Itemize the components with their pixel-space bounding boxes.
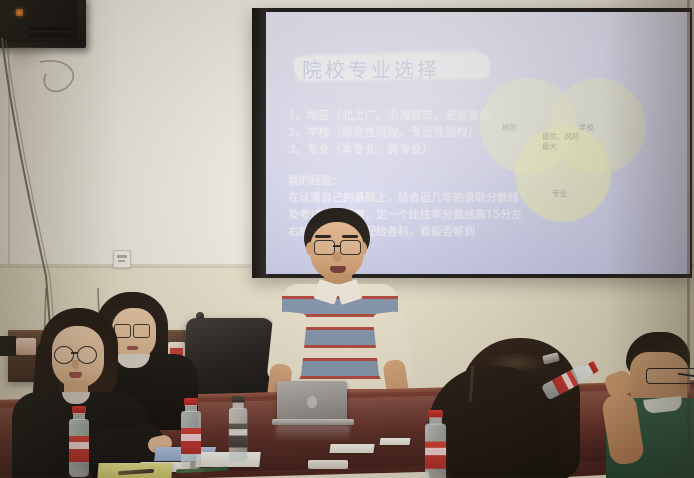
presenter-brow-right: [342, 235, 358, 238]
attendee-right-man: [600, 332, 694, 478]
slide-title: 院校专业选择: [302, 54, 502, 83]
paper-white-3: [329, 444, 374, 453]
presenter-brow-left: [315, 235, 331, 238]
wall-power-socket: [113, 250, 131, 268]
photo-scene: 院校专业选择 1、地区（北上广、沿海城市、老家省会．．． 2、学校（综合性院校、…: [0, 0, 694, 478]
paper-white-4: [380, 438, 411, 445]
back-table-black-box: [0, 336, 16, 356]
laptop-reflection: [276, 425, 350, 441]
presenter-nose: [333, 252, 341, 262]
glasses-icon-bridge: [333, 245, 340, 247]
monitor-power-led-icon: [16, 9, 23, 16]
venn-center-label: 最优、风险最大: [542, 132, 582, 152]
presenter-mouth: [330, 266, 346, 273]
presenter-ear-left: [306, 242, 314, 255]
glasses-icon-right-lens: [77, 346, 97, 364]
attendee-front-left-mouth: [69, 372, 82, 378]
monitor-vent-upper: [30, 27, 70, 30]
attendee-foreground-right-1: [428, 366, 560, 478]
glasses-icon-left-lens: [54, 346, 74, 364]
attendee-front-left-nose: [72, 360, 79, 369]
laptop-logo-icon: [307, 396, 317, 408]
back-chair: [186, 318, 274, 396]
glasses-icon-right-lens: [340, 240, 361, 255]
wall-cable-loop: [36, 60, 96, 100]
glasses-icon-left-lens: [314, 240, 335, 255]
phone-on-table: [308, 460, 348, 469]
venn-diagram: 地区 学校 专业 最优、风险最大: [476, 70, 676, 230]
wall-corner-right: [687, 0, 690, 478]
attendee-front-left: [26, 308, 156, 478]
venn-label-region: 地区: [502, 122, 517, 133]
venn-label-major: 专业: [552, 188, 567, 199]
glasses-icon-bridge: [71, 352, 78, 354]
